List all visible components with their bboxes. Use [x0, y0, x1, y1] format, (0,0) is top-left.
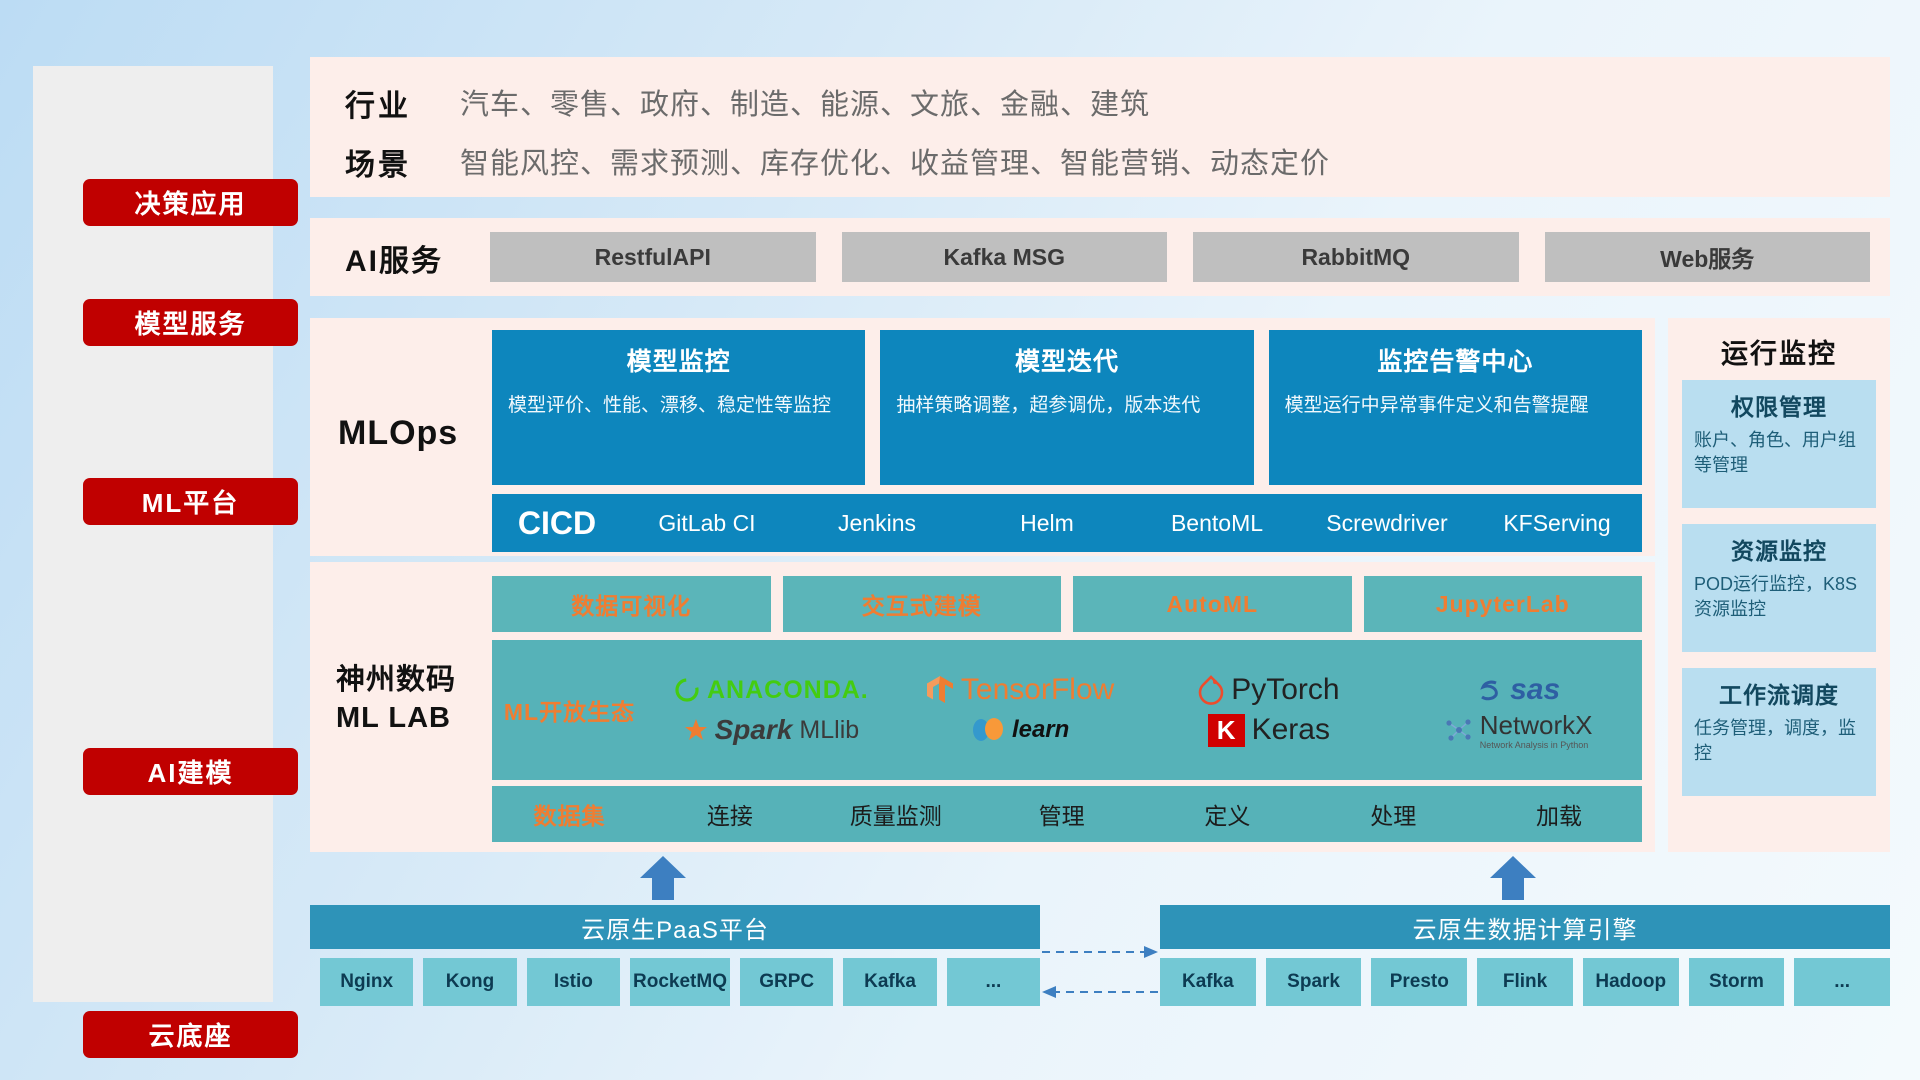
ai-service-chip[interactable]: Web服务 [1545, 232, 1871, 282]
bidirectional-connector [1040, 940, 1160, 1010]
monitor-card-workflow[interactable]: 工作流调度 任务管理，调度，监控 [1682, 668, 1876, 796]
mllab-tab-interactive-modeling[interactable]: 交互式建模 [783, 576, 1062, 632]
networkx-icon [1443, 716, 1473, 744]
keras-logo: K Keras [1145, 713, 1394, 747]
cloud-chip[interactable]: Presto [1371, 958, 1467, 1006]
cloud-chip[interactable]: ... [1794, 958, 1890, 1006]
ai-service-chip[interactable]: RestfulAPI [490, 232, 816, 282]
networkx-wordmark: NetworkX Network Analysis in Python [1480, 710, 1593, 750]
mllab-label-line1: 神州数码 [336, 662, 456, 700]
scikit-learn-icon [971, 715, 1005, 745]
cloud-chip[interactable]: Kong [423, 958, 516, 1006]
ai-service-chip[interactable]: RabbitMQ [1193, 232, 1519, 282]
rail-item-ai-modeling[interactable]: AI建模 [83, 748, 298, 795]
monitor-card-desc: POD运行监控，K8S资源监控 [1694, 572, 1864, 622]
mlops-label: MLOps [338, 414, 458, 453]
pytorch-icon [1198, 675, 1224, 705]
sas-logo: sas [1393, 673, 1642, 707]
ml-ecosystem-logo-grid: ANACONDA. TensorFlow PyTorch [647, 670, 1642, 750]
mllab-panel: 神州数码 ML LAB 数据可视化 交互式建模 AutoML JupyterLa… [310, 562, 1655, 852]
ml-ecosystem-label: ML开放生态 [492, 693, 647, 727]
cloud-chip[interactable]: Flink [1477, 958, 1573, 1006]
dataset-item[interactable]: 质量监测 [813, 797, 979, 831]
tensorflow-wordmark: TensorFlow [961, 673, 1114, 707]
scene-label: 场景 [345, 140, 411, 184]
cloud-chip[interactable]: ... [947, 958, 1040, 1006]
keras-icon: K [1208, 714, 1245, 747]
cicd-item[interactable]: Screwdriver [1302, 509, 1472, 538]
keras-wordmark: Keras [1252, 713, 1330, 747]
monitor-card-permission[interactable]: 权限管理 账户、角色、用户组等管理 [1682, 380, 1876, 508]
monitor-card-title: 资源监控 [1694, 532, 1864, 566]
mlops-card-list: 模型监控 模型评价、性能、漂移、稳定性等监控 模型迭代 抽样策略调整，超参调优，… [492, 330, 1642, 485]
left-rail: 决策应用 模型服务 ML平台 AI建模 云底座 [33, 66, 273, 1002]
dataset-item[interactable]: 加载 [1476, 797, 1642, 831]
cloud-chip[interactable]: Istio [527, 958, 620, 1006]
cloud-chip[interactable]: Spark [1266, 958, 1362, 1006]
cicd-item[interactable]: KFServing [1472, 509, 1642, 538]
spark-wordmark: Spark [715, 714, 793, 746]
networkx-name: NetworkX [1480, 710, 1593, 740]
mllib-wordmark: MLlib [799, 716, 859, 745]
pytorch-logo: PyTorch [1145, 673, 1394, 707]
mlops-card[interactable]: 监控告警中心 模型运行中异常事件定义和告警提醒 [1269, 330, 1642, 485]
cloud-compute-bar[interactable]: 云原生数据计算引擎 [1160, 905, 1890, 949]
dataset-label: 数据集 [492, 797, 647, 831]
rail-label: 云底座 [148, 1016, 232, 1053]
cicd-label: CICD [492, 505, 622, 542]
anaconda-logo: ANACONDA. [647, 676, 896, 705]
mlops-card-desc: 模型评价、性能、漂移、稳定性等监控 [508, 392, 849, 420]
cloud-chip[interactable]: Kafka [1160, 958, 1256, 1006]
rail-label: 模型服务 [134, 304, 246, 341]
pytorch-wordmark: PyTorch [1231, 673, 1339, 707]
ai-service-chip[interactable]: Kafka MSG [842, 232, 1168, 282]
cloud-chip[interactable]: Kafka [843, 958, 936, 1006]
cloud-chip[interactable]: RocketMQ [630, 958, 730, 1006]
runtime-monitor-title: 运行监控 [1668, 332, 1890, 371]
tensorflow-logo: TensorFlow [896, 673, 1145, 707]
rail-label: ML平台 [142, 483, 240, 520]
mllab-tab-data-visualization[interactable]: 数据可视化 [492, 576, 771, 632]
cicd-bar: CICD GitLab CI Jenkins Helm BentoML Scre… [492, 494, 1642, 552]
diagram-canvas: 决策应用 模型服务 ML平台 AI建模 云底座 行业 汽车、零售、政府、制造、能… [0, 0, 1920, 1080]
mlops-card-title: 模型迭代 [896, 342, 1237, 378]
monitor-card-desc: 任务管理，调度，监控 [1694, 716, 1864, 766]
arrow-up-right-icon [1490, 856, 1536, 900]
cloud-chip[interactable]: Hadoop [1583, 958, 1679, 1006]
industry-value: 汽车、零售、政府、制造、能源、文旅、金融、建筑 [460, 81, 1150, 123]
ai-service-label: AI服务 [345, 236, 443, 280]
mlops-panel: MLOps 模型监控 模型评价、性能、漂移、稳定性等监控 模型迭代 抽样策略调整… [310, 318, 1655, 556]
ml-ecosystem-row: ML开放生态 ANACONDA. TensorFlow [492, 640, 1642, 780]
dataset-item[interactable]: 定义 [1144, 797, 1310, 831]
monitor-card-title: 权限管理 [1694, 388, 1864, 422]
mllab-label: 神州数码 ML LAB [336, 662, 456, 737]
rail-label: AI建模 [147, 753, 233, 790]
spark-icon [684, 718, 708, 742]
networkx-tagline: Network Analysis in Python [1480, 741, 1593, 750]
cicd-item[interactable]: GitLab CI [622, 509, 792, 538]
tensorflow-icon [926, 675, 954, 705]
anaconda-icon [674, 677, 700, 703]
monitor-card-resource[interactable]: 资源监控 POD运行监控，K8S资源监控 [1682, 524, 1876, 652]
cloud-chip[interactable]: Storm [1689, 958, 1785, 1006]
sas-wordmark: sas [1510, 673, 1560, 707]
cloud-chip[interactable]: GRPC [740, 958, 833, 1006]
scene-value: 智能风控、需求预测、库存优化、收益管理、智能营销、动态定价 [460, 140, 1330, 182]
networkx-logo: NetworkX Network Analysis in Python [1393, 710, 1642, 750]
rail-label: 决策应用 [134, 184, 246, 221]
mllab-label-line2: ML LAB [336, 700, 456, 738]
sas-icon [1475, 676, 1503, 704]
dataset-row: 数据集 连接 质量监测 管理 定义 处理 加载 [492, 786, 1642, 842]
cloud-chip[interactable]: Nginx [320, 958, 413, 1006]
rail-item-ml-platform[interactable]: ML平台 [83, 478, 298, 525]
cicd-item[interactable]: Jenkins [792, 509, 962, 538]
mlops-card-title: 监控告警中心 [1285, 342, 1626, 378]
mlops-card-desc: 模型运行中异常事件定义和告警提醒 [1285, 392, 1626, 420]
mllab-tab-jupyterlab[interactable]: JupyterLab [1364, 576, 1643, 632]
dataset-item[interactable]: 处理 [1310, 797, 1476, 831]
spark-mllib-logo: Spark MLlib [647, 714, 896, 746]
cloud-paas-bar[interactable]: 云原生PaaS平台 [310, 905, 1040, 949]
monitor-card-title: 工作流调度 [1694, 676, 1864, 710]
industry-label: 行业 [345, 81, 411, 125]
rail-item-decision-app[interactable]: 决策应用 [83, 179, 298, 226]
runtime-monitor-panel: 运行监控 权限管理 账户、角色、用户组等管理 资源监控 POD运行监控，K8S资… [1668, 318, 1890, 852]
mlops-card-desc: 抽样策略调整，超参调优，版本迭代 [896, 392, 1237, 420]
ai-service-chip-list: RestfulAPI Kafka MSG RabbitMQ Web服务 [490, 232, 1870, 282]
dataset-item[interactable]: 管理 [979, 797, 1145, 831]
rail-item-model-service[interactable]: 模型服务 [83, 299, 298, 346]
mllab-tab-automl[interactable]: AutoML [1073, 576, 1352, 632]
mlops-card[interactable]: 模型迭代 抽样策略调整，超参调优，版本迭代 [880, 330, 1253, 485]
cloud-paas-chip-list: Nginx Kong Istio RocketMQ GRPC Kafka ... [320, 958, 1040, 1006]
mlops-card[interactable]: 模型监控 模型评价、性能、漂移、稳定性等监控 [492, 330, 865, 485]
arrow-up-left-icon [640, 856, 686, 900]
cloud-compute-chip-list: Kafka Spark Presto Flink Hadoop Storm ..… [1160, 958, 1890, 1006]
cicd-item[interactable]: BentoML [1132, 509, 1302, 538]
cicd-item[interactable]: Helm [962, 509, 1132, 538]
dataset-item[interactable]: 连接 [647, 797, 813, 831]
ai-service-panel: AI服务 RestfulAPI Kafka MSG RabbitMQ Web服务 [310, 218, 1890, 296]
mllab-tab-list: 数据可视化 交互式建模 AutoML JupyterLab [492, 576, 1642, 632]
rail-item-cloud-base[interactable]: 云底座 [83, 1011, 298, 1058]
monitor-card-desc: 账户、角色、用户组等管理 [1694, 428, 1864, 478]
scikit-learn-wordmark: learn [1012, 716, 1069, 744]
industry-scene-panel: 行业 汽车、零售、政府、制造、能源、文旅、金融、建筑 场景 智能风控、需求预测、… [310, 57, 1890, 197]
scikit-learn-logo: learn [896, 715, 1145, 745]
anaconda-wordmark: ANACONDA. [707, 676, 869, 705]
mlops-card-title: 模型监控 [508, 342, 849, 378]
